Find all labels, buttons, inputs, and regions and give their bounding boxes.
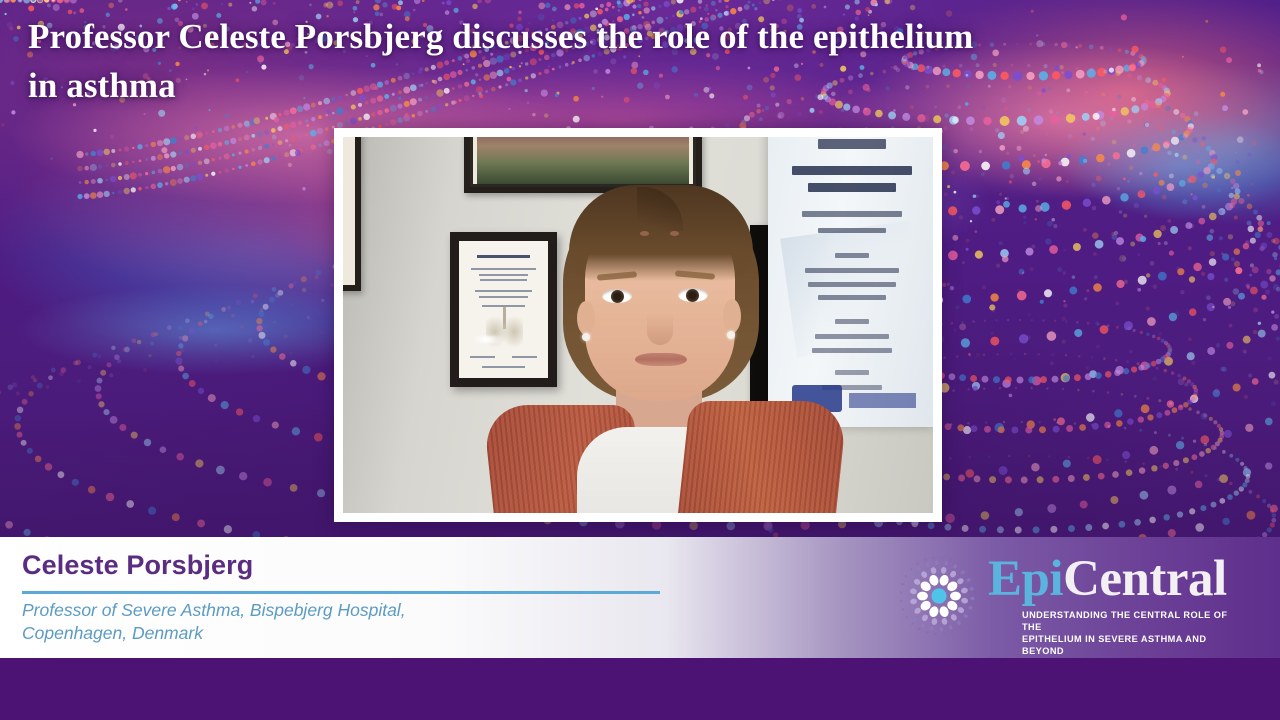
earring-right [727, 331, 735, 339]
epicentral-logo[interactable]: EpiCentral UNDERSTANDING THE CENTRAL ROL… [900, 549, 1245, 641]
screen-glare [473, 336, 503, 343]
video-still[interactable] [343, 137, 933, 513]
speaker-portrait [511, 191, 811, 513]
logo-word-epi: Epi [988, 551, 1063, 607]
speaker-info-banner: Celeste Porsbjerg Professor of Severe As… [0, 537, 1280, 658]
slide-stage: Professor Celeste Porsbjerg discusses th… [0, 0, 1280, 720]
video-player[interactable] [334, 128, 942, 522]
logo-tagline: UNDERSTANDING THE CENTRAL ROLE OF THE EP… [1022, 609, 1248, 657]
logo-word-central: Central [1063, 551, 1227, 607]
epicentral-dot-rosette-icon [900, 557, 978, 635]
divider-rule [22, 591, 660, 594]
bottom-bar [0, 658, 1280, 720]
logo-wordmark: EpiCentral [988, 550, 1227, 608]
speaker-name: Celeste Porsbjerg [22, 550, 253, 581]
page-title: Professor Celeste Porsbjerg discusses th… [28, 12, 1258, 110]
cardigan-right [676, 401, 848, 513]
framed-picture-left [343, 137, 361, 291]
earring-left [582, 333, 590, 341]
speaker-affiliation: Professor of Severe Asthma, Bispebjerg H… [22, 599, 722, 645]
